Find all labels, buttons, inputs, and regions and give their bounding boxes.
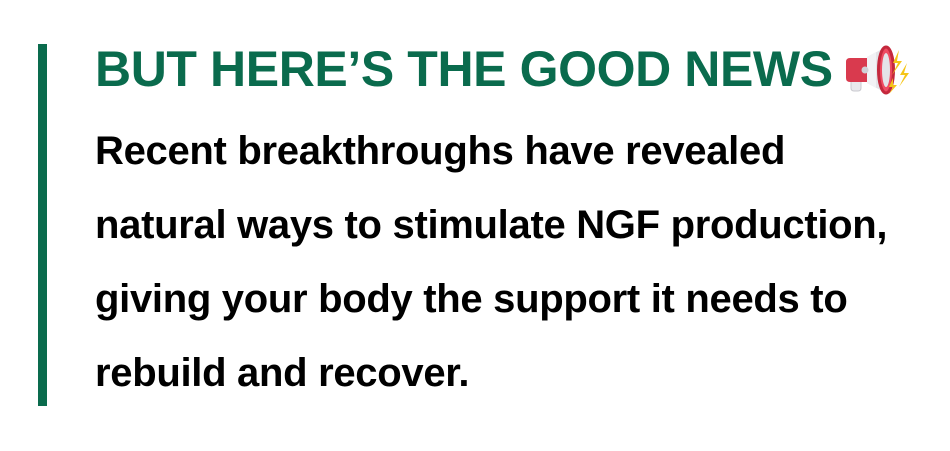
body-line: Recent breakthroughs have revealed [95, 114, 940, 188]
headline-text: BUT HERE’S THE GOOD NEWS [95, 40, 833, 98]
body-copy: Recent breakthroughs have revealed natur… [95, 114, 940, 410]
page-title: BUT HERE’S THE GOOD NEWS [95, 40, 940, 98]
megaphone-icon [843, 44, 909, 96]
good-news-callout: BUT HERE’S THE GOOD NEWS [0, 0, 950, 451]
body-line: giving your body the support it needs to [95, 262, 940, 336]
callout-content: BUT HERE’S THE GOOD NEWS [95, 40, 940, 410]
accent-bar [38, 44, 47, 406]
body-line: natural ways to stimulate NGF production… [95, 188, 940, 262]
body-line: rebuild and recover. [95, 336, 940, 410]
